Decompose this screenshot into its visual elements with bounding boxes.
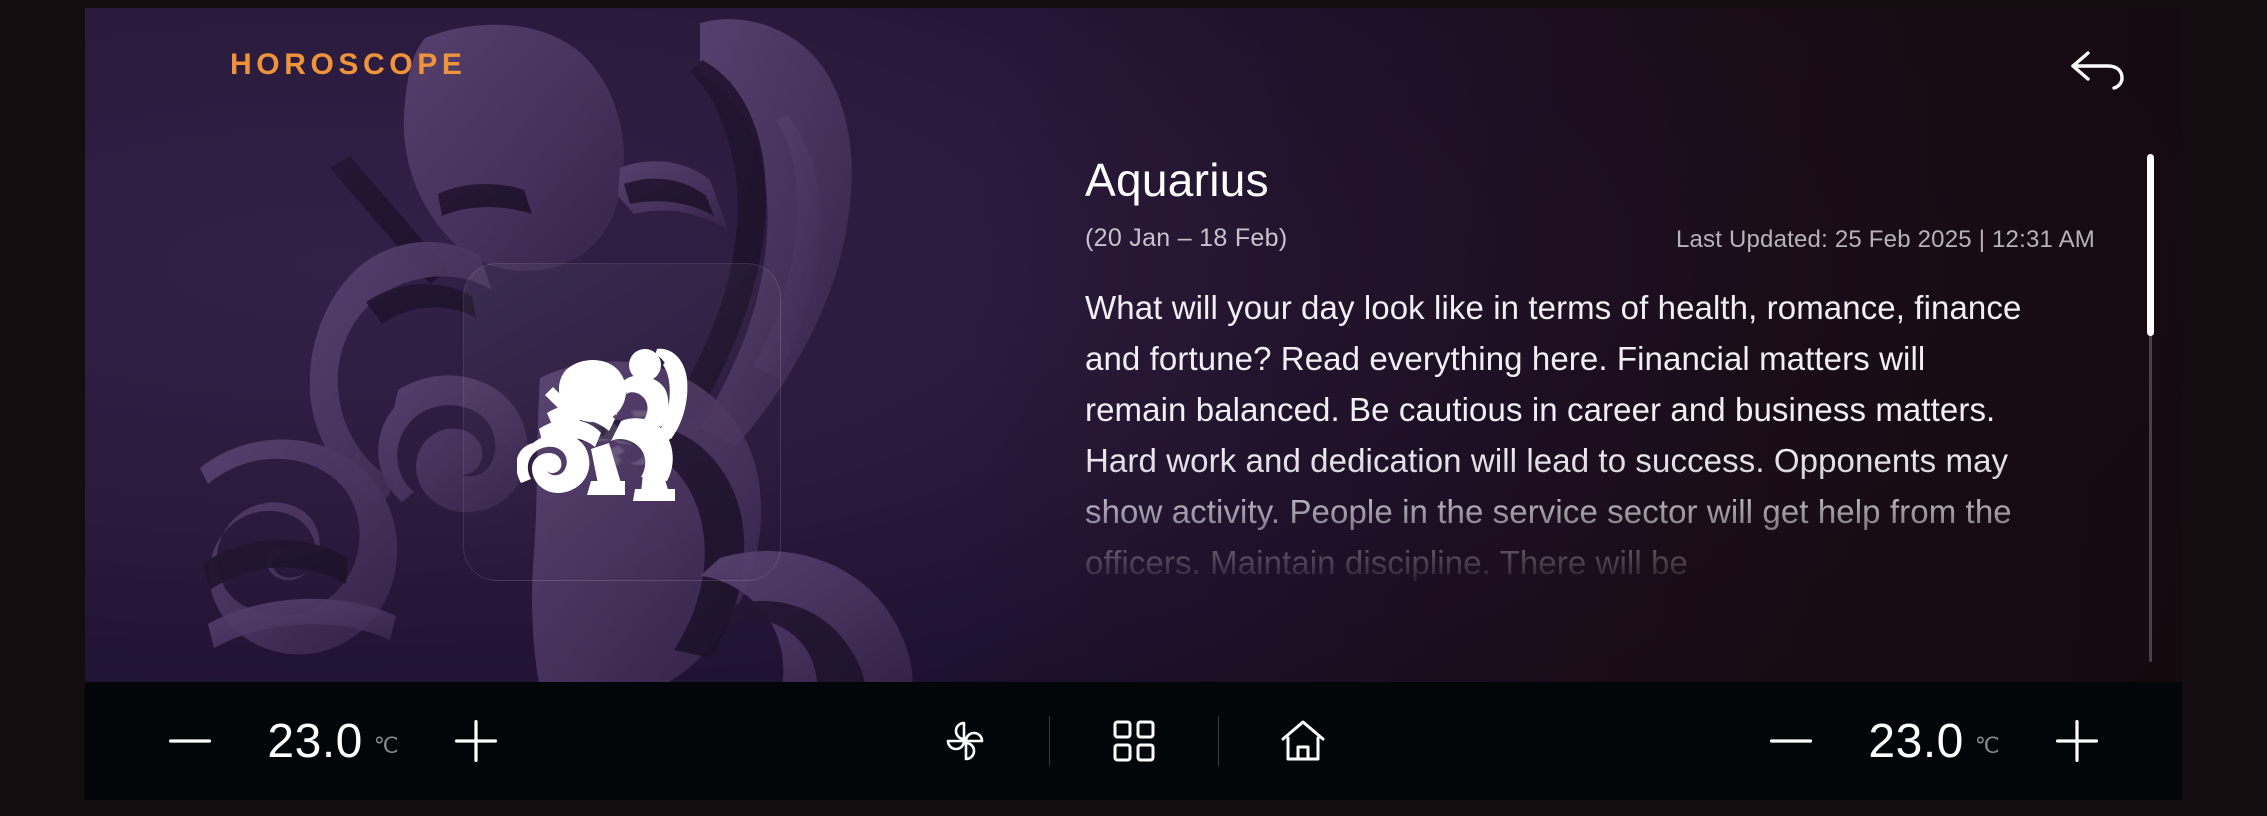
- apps-button[interactable]: [1078, 698, 1190, 784]
- passenger-temp-decrease-button[interactable]: [1748, 698, 1834, 784]
- sign-detail-column: Aquarius (20 Jan – 18 Feb) Last Updated:…: [1085, 156, 2095, 602]
- fan-icon: [939, 715, 991, 767]
- horoscope-panel: HOROSCOPE: [85, 8, 2182, 682]
- driver-temp-readout: 23.0 ℃: [233, 714, 433, 769]
- apps-grid-icon: [1110, 717, 1158, 765]
- driver-temp-decrease-button[interactable]: [147, 698, 233, 784]
- center-shortcut-cluster: [909, 682, 1359, 800]
- sign-meta-row: (20 Jan – 18 Feb) Last Updated: 25 Feb 2…: [1085, 224, 2095, 254]
- page-title: HOROSCOPE: [230, 48, 466, 82]
- passenger-temp-increase-button[interactable]: [2034, 698, 2120, 784]
- driver-temp-value: 23.0: [267, 714, 362, 769]
- passenger-temp-control: 23.0 ℃: [1748, 682, 2120, 800]
- horoscope-body-text: What will your day look like in terms of…: [1085, 282, 2030, 588]
- driver-temp-control: 23.0 ℃: [147, 682, 519, 800]
- infotainment-screen: HOROSCOPE: [0, 0, 2267, 816]
- driver-temp-unit: ℃: [374, 733, 399, 759]
- climate-control-bar: 23.0 ℃: [85, 682, 2182, 800]
- passenger-temp-value: 23.0: [1868, 714, 1963, 769]
- passenger-temp-unit: ℃: [1975, 733, 2000, 759]
- passenger-temp-readout: 23.0 ℃: [1834, 714, 2034, 769]
- horoscope-body-scrollarea[interactable]: What will your day look like in terms of…: [1085, 282, 2095, 602]
- plus-icon: [454, 719, 498, 763]
- sign-name: Aquarius: [1085, 156, 2095, 204]
- scrollbar-track[interactable]: [2149, 154, 2152, 662]
- minus-icon: [168, 735, 212, 747]
- sign-date-range: (20 Jan – 18 Feb): [1085, 224, 1287, 253]
- sign-glyph-tile: [463, 263, 781, 581]
- fan-button[interactable]: [909, 698, 1021, 784]
- plus-icon: [2055, 719, 2099, 763]
- driver-temp-increase-button[interactable]: [433, 698, 519, 784]
- last-updated-label: Last Updated: 25 Feb 2025 | 12:31 AM: [1676, 226, 2095, 254]
- scrollbar-thumb[interactable]: [2147, 154, 2154, 336]
- aquarius-water-bearer-icon: [517, 317, 727, 527]
- home-button[interactable]: [1247, 698, 1359, 784]
- divider: [1049, 716, 1050, 766]
- home-icon: [1277, 717, 1329, 765]
- divider: [1218, 716, 1219, 766]
- minus-icon: [1769, 735, 1813, 747]
- back-button[interactable]: [2051, 26, 2147, 112]
- back-arrow-icon: [2068, 43, 2130, 95]
